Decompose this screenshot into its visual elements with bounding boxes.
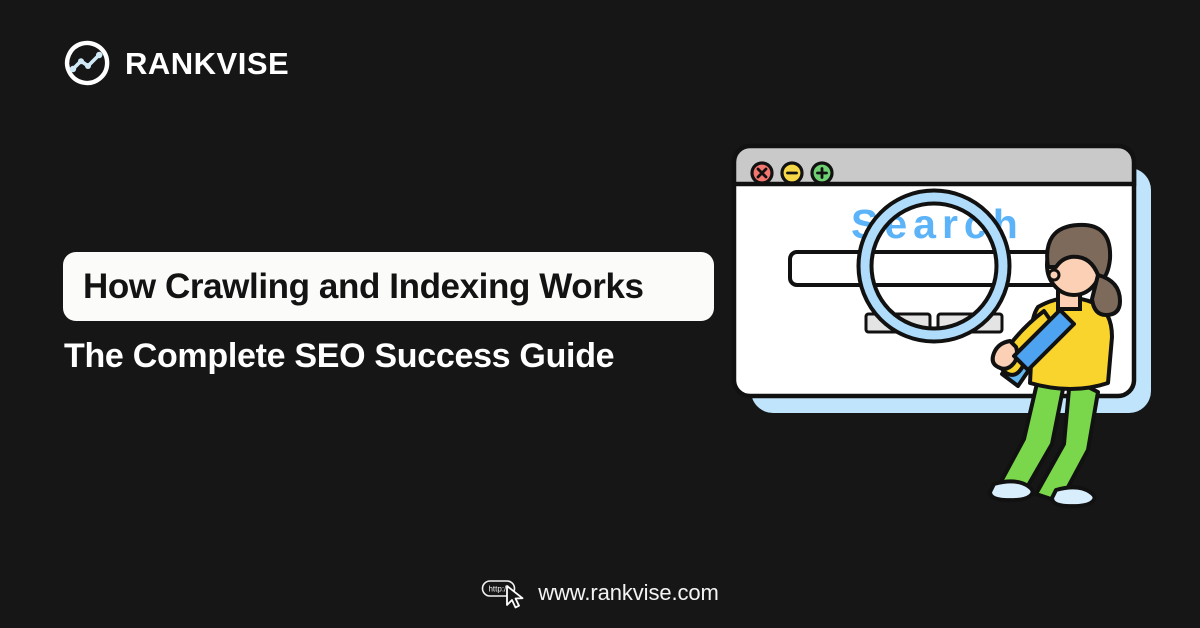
search-browser-illustration: Search	[718, 135, 1188, 525]
headline-box: How Crawling and Indexing Works	[63, 252, 714, 321]
url-bar-cursor-icon: http://	[481, 576, 527, 610]
chart-circle-icon	[62, 38, 112, 88]
traffic-light-minimize	[782, 163, 802, 183]
shoe-back	[1052, 487, 1095, 506]
page-title: How Crawling and Indexing Works	[83, 269, 644, 304]
footer-url[interactable]: www.rankvise.com	[538, 582, 719, 604]
brand-name: RANKVISE	[125, 48, 289, 79]
traffic-light-close	[752, 163, 772, 183]
page-subtitle: The Complete SEO Success Guide	[64, 336, 614, 377]
brand-logo[interactable]: RANKVISE	[62, 38, 289, 88]
shoe-front	[990, 481, 1033, 500]
search-input	[790, 252, 1090, 285]
footer: http:// www.rankvise.com	[0, 576, 1200, 610]
traffic-light-maximize	[812, 163, 832, 183]
